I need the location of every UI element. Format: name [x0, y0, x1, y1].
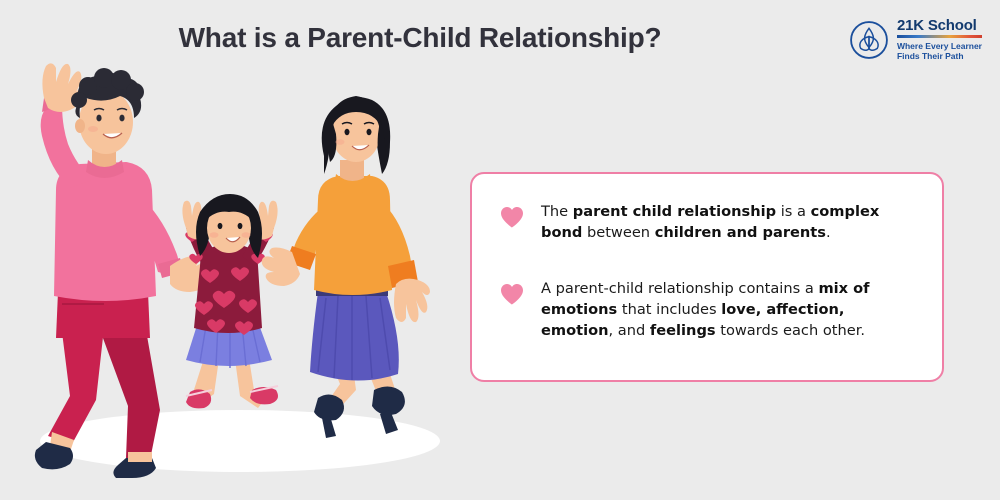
- child-figure: [182, 194, 278, 408]
- logo-text-block: 21K School Where Every Learner Finds The…: [897, 18, 982, 61]
- heart-icon: [500, 283, 524, 305]
- page-title: What is a Parent-Child Relationship?: [0, 22, 840, 54]
- list-item: A parent-child relationship contains a m…: [500, 279, 916, 341]
- bullet-text-1: The parent child relationship is a compl…: [541, 202, 916, 243]
- logo-tagline-line2: Finds Their Path: [897, 51, 982, 61]
- logo-brand-name: 21K School: [897, 18, 982, 33]
- list-item: The parent child relationship is a compl…: [500, 202, 916, 243]
- lotus-circle-icon: [849, 20, 889, 60]
- mother-figure: [262, 96, 430, 438]
- parent-child-illustration: [0, 60, 470, 500]
- logo-gradient-divider: [897, 35, 982, 38]
- info-card: The parent child relationship is a compl…: [470, 172, 944, 382]
- brand-logo[interactable]: 21K School Where Every Learner Finds The…: [849, 18, 982, 61]
- ground-ellipse: [40, 410, 440, 472]
- poster-canvas: What is a Parent-Child Relationship? 21K…: [0, 0, 1000, 500]
- logo-tagline-line1: Where Every Learner: [897, 41, 982, 51]
- heart-icon: [500, 206, 524, 228]
- bullet-list: The parent child relationship is a compl…: [472, 174, 942, 342]
- bullet-text-2: A parent-child relationship contains a m…: [541, 279, 916, 341]
